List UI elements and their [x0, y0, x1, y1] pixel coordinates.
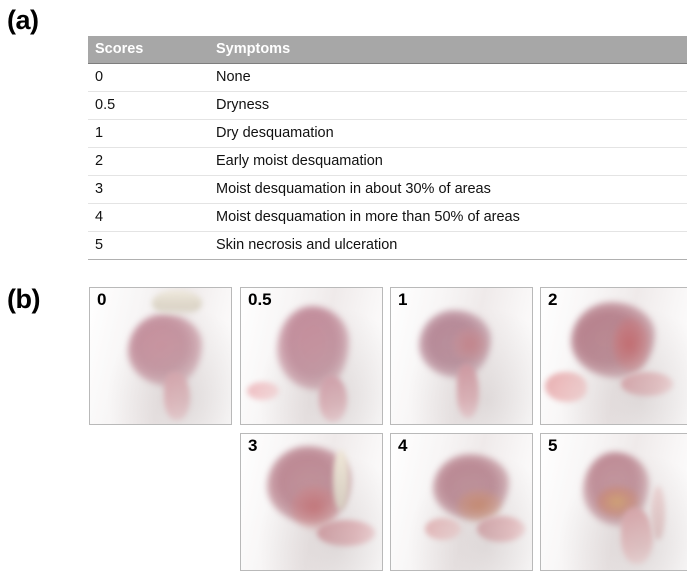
- cell-symptom: Skin necrosis and ulceration: [205, 232, 687, 260]
- table-row: 1 Dry desquamation: [88, 120, 687, 148]
- cell-score: 4: [88, 204, 205, 232]
- photo-label: 3: [248, 437, 257, 456]
- mouse-leg-photo: [391, 288, 532, 424]
- radiation-score-table: Scores Symptoms 0 None 0.5 Dryness 1 Dry…: [88, 36, 687, 260]
- table-row: 4 Moist desquamation in more than 50% of…: [88, 204, 687, 232]
- mouse-leg-photo: [90, 288, 231, 424]
- photo-shading: [541, 288, 687, 424]
- cell-score: 1: [88, 120, 205, 148]
- table-row: 5 Skin necrosis and ulceration: [88, 232, 687, 260]
- cell-score: 3: [88, 176, 205, 204]
- cell-symptom: Dryness: [205, 92, 687, 120]
- photo-label: 0.5: [248, 291, 272, 310]
- cell-symptom: Dry desquamation: [205, 120, 687, 148]
- cell-symptom: None: [205, 64, 687, 92]
- cell-symptom: Moist desquamation in about 30% of areas: [205, 176, 687, 204]
- panel-a-letter: (a): [7, 5, 39, 36]
- photo-label: 4: [398, 437, 407, 456]
- cell-symptom: Moist desquamation in more than 50% of a…: [205, 204, 687, 232]
- photo-score-5: 5: [540, 433, 687, 571]
- table-header-row: Scores Symptoms: [88, 36, 687, 64]
- photo-shading: [391, 288, 532, 424]
- photo-score-2: 2: [540, 287, 687, 425]
- mouse-leg-photo: [241, 434, 382, 570]
- table-row: 3 Moist desquamation in about 30% of are…: [88, 176, 687, 204]
- cell-score: 0: [88, 64, 205, 92]
- mouse-leg-photo: [541, 434, 687, 570]
- cell-symptom: Early moist desquamation: [205, 148, 687, 176]
- photo-label: 5: [548, 437, 557, 456]
- photo-score-1: 1: [390, 287, 533, 425]
- mouse-leg-photo: [391, 434, 532, 570]
- mouse-leg-photo: [541, 288, 687, 424]
- photo-score-4: 4: [390, 433, 533, 571]
- photo-score-0: 0: [89, 287, 232, 425]
- photo-label: 0: [97, 291, 106, 310]
- table-row: 2 Early moist desquamation: [88, 148, 687, 176]
- photo-label: 2: [548, 291, 557, 310]
- photo-label: 1: [398, 291, 407, 310]
- photo-score-0-5: 0.5: [240, 287, 383, 425]
- column-header-scores: Scores: [88, 36, 205, 64]
- table-row: 0 None: [88, 64, 687, 92]
- cell-score: 2: [88, 148, 205, 176]
- photo-shading: [90, 288, 231, 424]
- table-row: 0.5 Dryness: [88, 92, 687, 120]
- photo-shading: [241, 434, 382, 570]
- photo-score-3: 3: [240, 433, 383, 571]
- photo-shading: [541, 434, 687, 570]
- cell-score: 5: [88, 232, 205, 260]
- photo-shading: [391, 434, 532, 570]
- panel-b-letter: (b): [7, 284, 40, 315]
- column-header-symptoms: Symptoms: [205, 36, 687, 64]
- cell-score: 0.5: [88, 92, 205, 120]
